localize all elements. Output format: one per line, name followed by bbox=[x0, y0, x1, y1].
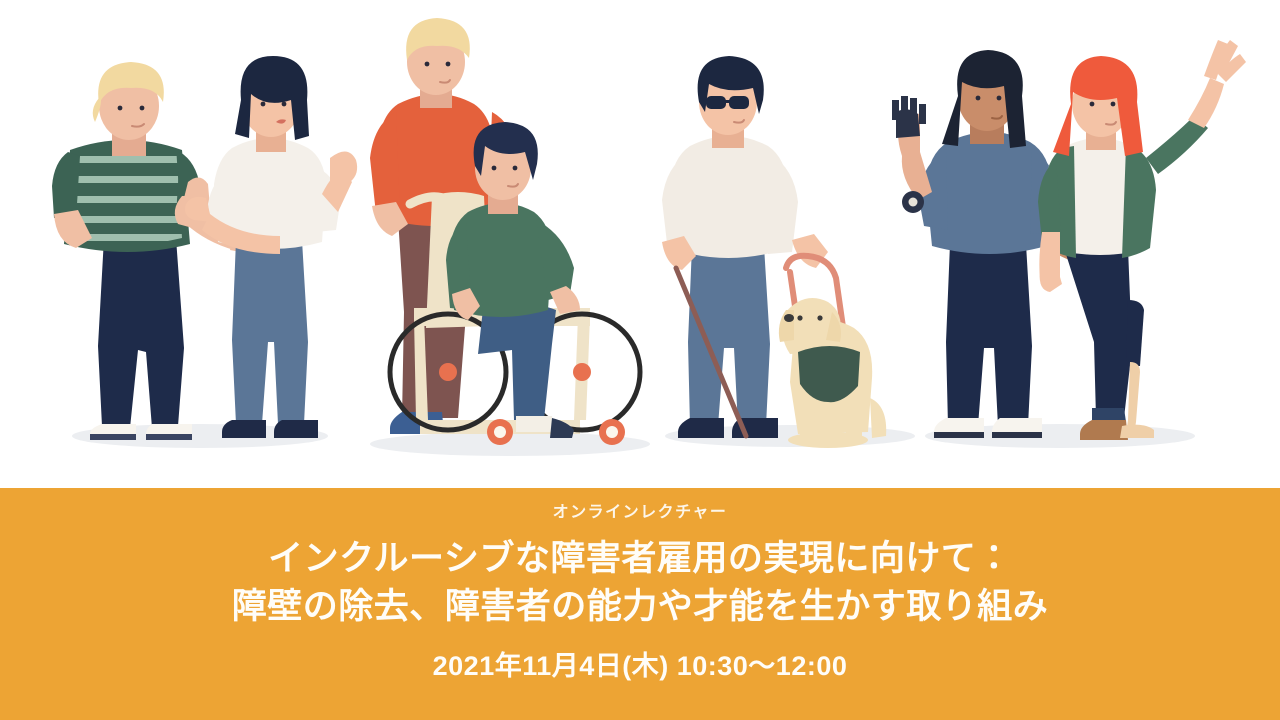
page-title: インクルーシブな障害者雇用の実現に向けて： 障壁の除去、障害者の能力や才能を生か… bbox=[232, 535, 1049, 632]
prosthetic-hand bbox=[892, 96, 926, 138]
figure-prosthetic-leg-woman bbox=[1038, 40, 1246, 440]
event-datetime: 2021年11月4日(木) 10:30〜12:00 bbox=[433, 653, 848, 680]
inclusive-people-illustration bbox=[0, 0, 1280, 488]
hero-illustration bbox=[0, 0, 1280, 488]
guide-dog bbox=[779, 256, 886, 448]
figure-woman-signing bbox=[185, 56, 357, 438]
title-line-2: 障壁の除去、障害者の能力や才能を生かす取り組み bbox=[232, 583, 1049, 631]
title-line-1: インクルーシブな障害者雇用の実現に向けて： bbox=[232, 535, 1049, 583]
event-category-label: オンラインレクチャー bbox=[553, 505, 728, 521]
caption-band: オンラインレクチャー インクルーシブな障害者雇用の実現に向けて： 障壁の除去、障… bbox=[0, 488, 1280, 720]
presentation-slide: オンラインレクチャー インクルーシブな障害者雇用の実現に向けて： 障壁の除去、障… bbox=[0, 0, 1280, 720]
